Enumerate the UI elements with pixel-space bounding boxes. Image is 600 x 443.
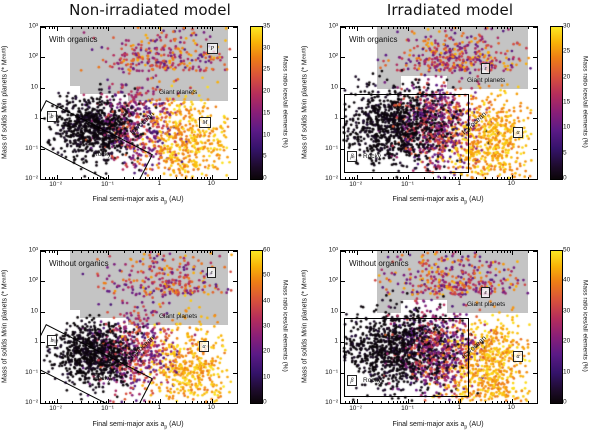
- organics-label: With organics: [49, 35, 97, 44]
- x-minor-tick: [349, 177, 350, 179]
- x-tick-label: 1: [458, 404, 462, 411]
- rocky-region-box: [344, 318, 469, 398]
- x-minor-tick: [197, 177, 198, 179]
- y-tick-label: 10²: [16, 53, 38, 60]
- x-minor-tick: [88, 251, 89, 253]
- y-tick-mark: [533, 118, 537, 119]
- x-minor-tick: [345, 401, 346, 403]
- x-minor-tick: [207, 27, 208, 29]
- x-minor-tick: [455, 27, 456, 29]
- x-minor-tick: [149, 177, 150, 179]
- x-minor-tick: [458, 401, 459, 403]
- colorbar-tick-label: 25: [563, 48, 570, 55]
- x-minor-tick: [433, 251, 434, 253]
- x-minor-tick: [345, 27, 346, 29]
- colorbar-tick-label: 10: [563, 368, 570, 375]
- y-tick-mark: [233, 88, 237, 89]
- x-minor-tick: [445, 251, 446, 253]
- x-tick-label: 10: [508, 180, 515, 187]
- x-minor-tick: [81, 401, 82, 403]
- x-minor-tick: [152, 27, 153, 29]
- x-minor-tick: [45, 251, 46, 253]
- giant-planets-label: Giant planets: [467, 77, 505, 84]
- x-minor-tick: [210, 27, 211, 29]
- x-minor-tick: [397, 177, 398, 179]
- x-minor-tick: [497, 251, 498, 253]
- x-minor-tick: [440, 401, 441, 403]
- y-tick-mark: [41, 312, 45, 313]
- y-tick-label: 1: [316, 338, 338, 345]
- x-tick-label: 10⁻¹: [101, 180, 114, 188]
- y-tick-mark: [533, 342, 537, 343]
- x-axis-title: Final semi-major axis ap (AU): [340, 421, 536, 430]
- x-tick-label: 10⁻²: [49, 404, 62, 412]
- x-minor-tick: [207, 401, 208, 403]
- x-minor-tick: [155, 401, 156, 403]
- x-minor-tick: [352, 251, 353, 253]
- x-minor-tick: [228, 251, 229, 253]
- x-tick-label: 10: [208, 404, 215, 411]
- x-minor-tick: [97, 401, 98, 403]
- x-minor-tick: [192, 251, 193, 253]
- colorbar-tick-label: 30: [263, 44, 270, 51]
- colorbar-gradient: [250, 26, 263, 180]
- x-minor-tick: [492, 27, 493, 29]
- x-minor-tick: [45, 177, 46, 179]
- x-minor-tick: [403, 177, 404, 179]
- x-minor-tick: [510, 401, 511, 403]
- organics-label: With organics: [349, 35, 397, 44]
- y-tick-label: 10⁻²: [316, 398, 338, 406]
- y-tick-label: 10²: [16, 277, 38, 284]
- x-minor-tick: [149, 251, 150, 253]
- colorbar-title: Mass ratio ices/all elements (%): [578, 26, 592, 178]
- x-minor-tick: [440, 27, 441, 29]
- x-tick-label: 10⁻²: [349, 404, 362, 412]
- x-minor-tick: [393, 251, 394, 253]
- y-tick-mark: [41, 403, 45, 404]
- plot-area-top-right: With organics Giant planets Rocky Icy/oc…: [340, 26, 538, 180]
- x-minor-tick: [45, 401, 46, 403]
- colorbar-title: Mass ratio ices/all elements (%): [578, 250, 592, 402]
- x-minor-tick: [393, 177, 394, 179]
- y-tick-mark: [233, 149, 237, 150]
- tag-icy-ocean: α: [513, 351, 523, 362]
- colorbar-tick-label: 5: [263, 153, 267, 160]
- x-minor-tick: [210, 401, 211, 403]
- x-minor-tick: [501, 177, 502, 179]
- x-tick-mark: [212, 175, 213, 179]
- y-tick-mark: [233, 312, 237, 313]
- x-minor-tick: [349, 401, 350, 403]
- tag-giant-planets: P: [207, 43, 218, 54]
- x-minor-tick: [140, 251, 141, 253]
- y-tick-label: 1: [316, 114, 338, 121]
- tag-icy-ocean: α: [199, 341, 209, 352]
- x-minor-tick: [158, 251, 159, 253]
- x-minor-tick: [228, 27, 229, 29]
- x-minor-tick: [197, 251, 198, 253]
- y-tick-label: 10⁻²: [16, 174, 38, 182]
- tag-giant-planets: ε: [481, 287, 490, 298]
- x-minor-tick: [210, 251, 211, 253]
- x-minor-tick: [158, 177, 159, 179]
- x-minor-tick: [507, 177, 508, 179]
- x-minor-tick: [176, 177, 177, 179]
- giant-planets-label: Giant planets: [159, 89, 197, 96]
- panel-top-left: Non-irradiated model Mass of solids Mp i…: [0, 0, 300, 221]
- colorbar-gradient: [550, 250, 563, 404]
- x-minor-tick: [49, 251, 50, 253]
- x-minor-tick: [510, 177, 511, 179]
- x-minor-tick: [207, 251, 208, 253]
- x-minor-tick: [492, 401, 493, 403]
- x-minor-tick: [145, 177, 146, 179]
- x-minor-tick: [397, 27, 398, 29]
- x-minor-tick: [176, 251, 177, 253]
- x-minor-tick: [406, 401, 407, 403]
- x-tick-mark: [357, 399, 358, 403]
- x-tick-mark: [460, 399, 461, 403]
- x-minor-tick: [507, 251, 508, 253]
- x-minor-tick: [100, 251, 101, 253]
- colorbar-tick-label: 0: [263, 399, 267, 406]
- x-minor-tick: [192, 27, 193, 29]
- x-minor-tick: [497, 27, 498, 29]
- x-minor-tick: [124, 251, 125, 253]
- x-tick-label: 10⁻¹: [401, 404, 414, 412]
- x-minor-tick: [210, 177, 211, 179]
- x-minor-tick: [72, 177, 73, 179]
- x-minor-tick: [201, 27, 202, 29]
- x-tick-mark: [408, 27, 409, 31]
- x-minor-tick: [97, 27, 98, 29]
- x-minor-tick: [393, 27, 394, 29]
- x-minor-tick: [440, 177, 441, 179]
- x-tick-mark: [408, 251, 409, 255]
- x-minor-tick: [349, 251, 350, 253]
- y-tick-mark: [341, 179, 345, 180]
- x-minor-tick: [354, 401, 355, 403]
- x-minor-tick: [504, 177, 505, 179]
- x-minor-tick: [445, 27, 446, 29]
- x-minor-tick: [97, 251, 98, 253]
- x-minor-tick: [354, 251, 355, 253]
- x-minor-tick: [485, 27, 486, 29]
- x-minor-tick: [49, 27, 50, 29]
- x-axis-title: Final semi-major axis ap (AU): [340, 196, 536, 205]
- x-minor-tick: [406, 251, 407, 253]
- x-minor-tick: [458, 27, 459, 29]
- x-minor-tick: [406, 27, 407, 29]
- x-tick-mark: [160, 175, 161, 179]
- colorbar-tick-label: 10: [263, 373, 270, 380]
- plot-area-top-left: With organics Giant planets Rocky Icy/oc…: [40, 26, 238, 180]
- x-minor-tick: [345, 251, 346, 253]
- x-tick-label: 1: [158, 180, 162, 187]
- x-tick-label: 1: [158, 404, 162, 411]
- x-minor-tick: [152, 251, 153, 253]
- x-minor-tick: [458, 251, 459, 253]
- x-tick-mark: [57, 175, 58, 179]
- y-tick-mark: [341, 281, 345, 282]
- x-minor-tick: [176, 27, 177, 29]
- x-minor-tick: [106, 27, 107, 29]
- y-tick-mark: [533, 88, 537, 89]
- y-tick-mark: [233, 281, 237, 282]
- x-minor-tick: [485, 177, 486, 179]
- x-minor-tick: [445, 401, 446, 403]
- y-tick-label: 10⁻¹: [316, 144, 338, 152]
- y-tick-mark: [533, 251, 537, 252]
- x-minor-tick: [149, 27, 150, 29]
- y-axis-title: Mass of solids Mp in planets (* Mearth): [298, 250, 312, 402]
- x-axis-title: Final semi-major axis ap (AU): [40, 421, 236, 430]
- x-minor-tick: [458, 177, 459, 179]
- x-minor-tick: [133, 251, 134, 253]
- colorbar-tick-label: 35: [263, 23, 270, 30]
- x-minor-tick: [103, 27, 104, 29]
- x-minor-tick: [406, 177, 407, 179]
- x-axis-title: Final semi-major axis ap (AU): [40, 196, 236, 205]
- x-minor-tick: [145, 401, 146, 403]
- x-minor-tick: [352, 177, 353, 179]
- x-minor-tick: [88, 401, 89, 403]
- x-minor-tick: [504, 251, 505, 253]
- x-minor-tick: [440, 251, 441, 253]
- y-tick-label: 10²: [316, 277, 338, 284]
- x-tick-mark: [57, 27, 58, 31]
- organics-label: Without organics: [49, 259, 109, 268]
- colorbar-gradient: [550, 26, 563, 180]
- x-minor-tick: [52, 27, 53, 29]
- x-minor-tick: [185, 251, 186, 253]
- x-tick-mark: [357, 27, 358, 31]
- x-minor-tick: [433, 177, 434, 179]
- plot-area-bottom-right: Without organics Giant planets Rocky Icy…: [340, 250, 538, 404]
- x-minor-tick: [152, 177, 153, 179]
- x-tick-mark: [460, 251, 461, 255]
- x-minor-tick: [507, 27, 508, 29]
- x-tick-mark: [408, 399, 409, 403]
- x-minor-tick: [49, 401, 50, 403]
- y-tick-label: 1: [16, 114, 38, 121]
- organics-label: Without organics: [349, 259, 409, 268]
- x-minor-tick: [204, 27, 205, 29]
- x-minor-tick: [97, 177, 98, 179]
- y-tick-label: 10²: [316, 53, 338, 60]
- tag-icy-ocean: α: [513, 127, 523, 138]
- x-minor-tick: [88, 177, 89, 179]
- x-minor-tick: [372, 177, 373, 179]
- x-minor-tick: [424, 401, 425, 403]
- y-tick-label: 10⁻²: [16, 398, 38, 406]
- x-tick-mark: [512, 399, 513, 403]
- colorbar-tick-label: 10: [563, 124, 570, 131]
- x-tick-label: 10: [208, 180, 215, 187]
- x-minor-tick: [397, 401, 398, 403]
- x-minor-tick: [72, 251, 73, 253]
- x-minor-tick: [452, 251, 453, 253]
- y-tick-mark: [233, 118, 237, 119]
- x-minor-tick: [81, 177, 82, 179]
- x-minor-tick: [501, 401, 502, 403]
- x-minor-tick: [155, 177, 156, 179]
- x-minor-tick: [49, 177, 50, 179]
- x-minor-tick: [152, 401, 153, 403]
- x-minor-tick: [424, 177, 425, 179]
- y-tick-label: 10³: [316, 247, 338, 254]
- x-minor-tick: [93, 27, 94, 29]
- x-minor-tick: [149, 401, 150, 403]
- figure-root: Non-irradiated model Mass of solids Mp i…: [0, 0, 600, 443]
- x-minor-tick: [449, 401, 450, 403]
- panel-title-right: Irradiated model: [300, 1, 600, 19]
- y-tick-mark: [41, 57, 45, 58]
- y-tick-label: 10³: [16, 247, 38, 254]
- x-minor-tick: [400, 251, 401, 253]
- x-minor-tick: [381, 27, 382, 29]
- x-minor-tick: [185, 27, 186, 29]
- tag-giant-planets: ε: [207, 267, 216, 278]
- x-minor-tick: [492, 177, 493, 179]
- x-minor-tick: [197, 27, 198, 29]
- x-minor-tick: [510, 251, 511, 253]
- plot-area-bottom-left: Without organics Giant planets Rocky Icy…: [40, 250, 238, 404]
- x-minor-tick: [192, 177, 193, 179]
- x-tick-label: 10: [508, 404, 515, 411]
- x-minor-tick: [501, 27, 502, 29]
- x-minor-tick: [403, 401, 404, 403]
- x-minor-tick: [72, 401, 73, 403]
- x-minor-tick: [176, 401, 177, 403]
- x-tick-mark: [512, 27, 513, 31]
- x-minor-tick: [192, 401, 193, 403]
- x-tick-mark: [460, 175, 461, 179]
- x-minor-tick: [145, 251, 146, 253]
- colorbar-tick-label: 25: [263, 66, 270, 73]
- x-minor-tick: [507, 401, 508, 403]
- colorbar-tick-label: 50: [563, 247, 570, 254]
- x-minor-tick: [158, 27, 159, 29]
- x-tick-mark: [108, 251, 109, 255]
- colorbar-tick-label: 15: [563, 99, 570, 106]
- x-minor-tick: [201, 401, 202, 403]
- y-tick-mark: [41, 88, 45, 89]
- x-minor-tick: [185, 177, 186, 179]
- y-tick-mark: [533, 403, 537, 404]
- y-tick-label: 10⁻²: [316, 174, 338, 182]
- colorbar-tick-label: 5: [563, 149, 567, 156]
- x-minor-tick: [497, 401, 498, 403]
- x-minor-tick: [485, 251, 486, 253]
- x-tick-label: 10⁻¹: [401, 180, 414, 188]
- x-tick-label: 10⁻²: [49, 180, 62, 188]
- x-minor-tick: [476, 251, 477, 253]
- panel-top-right: Irradiated model Mass of solids Mp in pl…: [300, 0, 600, 221]
- colorbar-tick-label: 20: [563, 338, 570, 345]
- colorbar-tick-label: 30: [563, 23, 570, 30]
- x-minor-tick: [433, 27, 434, 29]
- x-tick-label: 1: [458, 180, 462, 187]
- x-minor-tick: [54, 251, 55, 253]
- x-minor-tick: [388, 27, 389, 29]
- x-minor-tick: [133, 27, 134, 29]
- x-minor-tick: [403, 27, 404, 29]
- x-minor-tick: [504, 401, 505, 403]
- x-tick-mark: [357, 175, 358, 179]
- x-minor-tick: [201, 177, 202, 179]
- x-minor-tick: [381, 251, 382, 253]
- x-minor-tick: [528, 27, 529, 29]
- x-minor-tick: [501, 251, 502, 253]
- x-tick-label: 10⁻²: [349, 180, 362, 188]
- panel-title-left: Non-irradiated model: [0, 1, 300, 19]
- x-minor-tick: [52, 251, 53, 253]
- x-minor-tick: [449, 251, 450, 253]
- x-minor-tick: [349, 27, 350, 29]
- x-minor-tick: [424, 251, 425, 253]
- giant-planets-label: Giant planets: [467, 301, 505, 308]
- x-minor-tick: [452, 27, 453, 29]
- x-minor-tick: [93, 177, 94, 179]
- y-tick-label: 10⁻¹: [16, 368, 38, 376]
- x-minor-tick: [155, 27, 156, 29]
- x-minor-tick: [207, 177, 208, 179]
- y-tick-label: 10: [16, 83, 38, 90]
- x-minor-tick: [54, 401, 55, 403]
- x-minor-tick: [424, 27, 425, 29]
- x-minor-tick: [52, 177, 53, 179]
- x-tick-mark: [212, 27, 213, 31]
- x-tick-mark: [212, 251, 213, 255]
- y-axis-title: Mass of solids Mp in planets (* Mearth): [298, 26, 312, 178]
- y-tick-mark: [233, 57, 237, 58]
- y-tick-mark: [341, 403, 345, 404]
- x-minor-tick: [528, 401, 529, 403]
- x-minor-tick: [197, 401, 198, 403]
- panel-bottom-left: Mass of solids Mp in planets (* Mearth) …: [0, 222, 300, 443]
- y-tick-mark: [533, 149, 537, 150]
- y-tick-label: 10: [316, 83, 338, 90]
- y-tick-label: 10⁻¹: [16, 144, 38, 152]
- tag-icy-ocean: M: [199, 117, 211, 128]
- x-minor-tick: [485, 401, 486, 403]
- x-minor-tick: [100, 27, 101, 29]
- colorbar-gradient: [250, 250, 263, 404]
- x-minor-tick: [504, 27, 505, 29]
- y-tick-mark: [533, 312, 537, 313]
- y-tick-mark: [233, 403, 237, 404]
- colorbar-tick-label: 20: [563, 73, 570, 80]
- x-minor-tick: [400, 401, 401, 403]
- colorbar-tick-label: 20: [263, 348, 270, 355]
- x-minor-tick: [103, 251, 104, 253]
- x-minor-tick: [510, 27, 511, 29]
- y-axis-title: Mass of solids Mp in planets (* Mearth): [0, 250, 12, 402]
- colorbar-title: Mass ratio ices/all elements (%): [278, 26, 292, 178]
- x-tick-mark: [512, 175, 513, 179]
- x-minor-tick: [54, 27, 55, 29]
- x-tick-label: 10⁻¹: [101, 404, 114, 412]
- x-minor-tick: [388, 177, 389, 179]
- y-tick-mark: [233, 342, 237, 343]
- x-minor-tick: [54, 177, 55, 179]
- tag-giant-planets: ε: [481, 63, 490, 74]
- colorbar-tick-label: 0: [263, 175, 267, 182]
- x-tick-mark: [57, 399, 58, 403]
- giant-planets-label: Giant planets: [159, 313, 197, 320]
